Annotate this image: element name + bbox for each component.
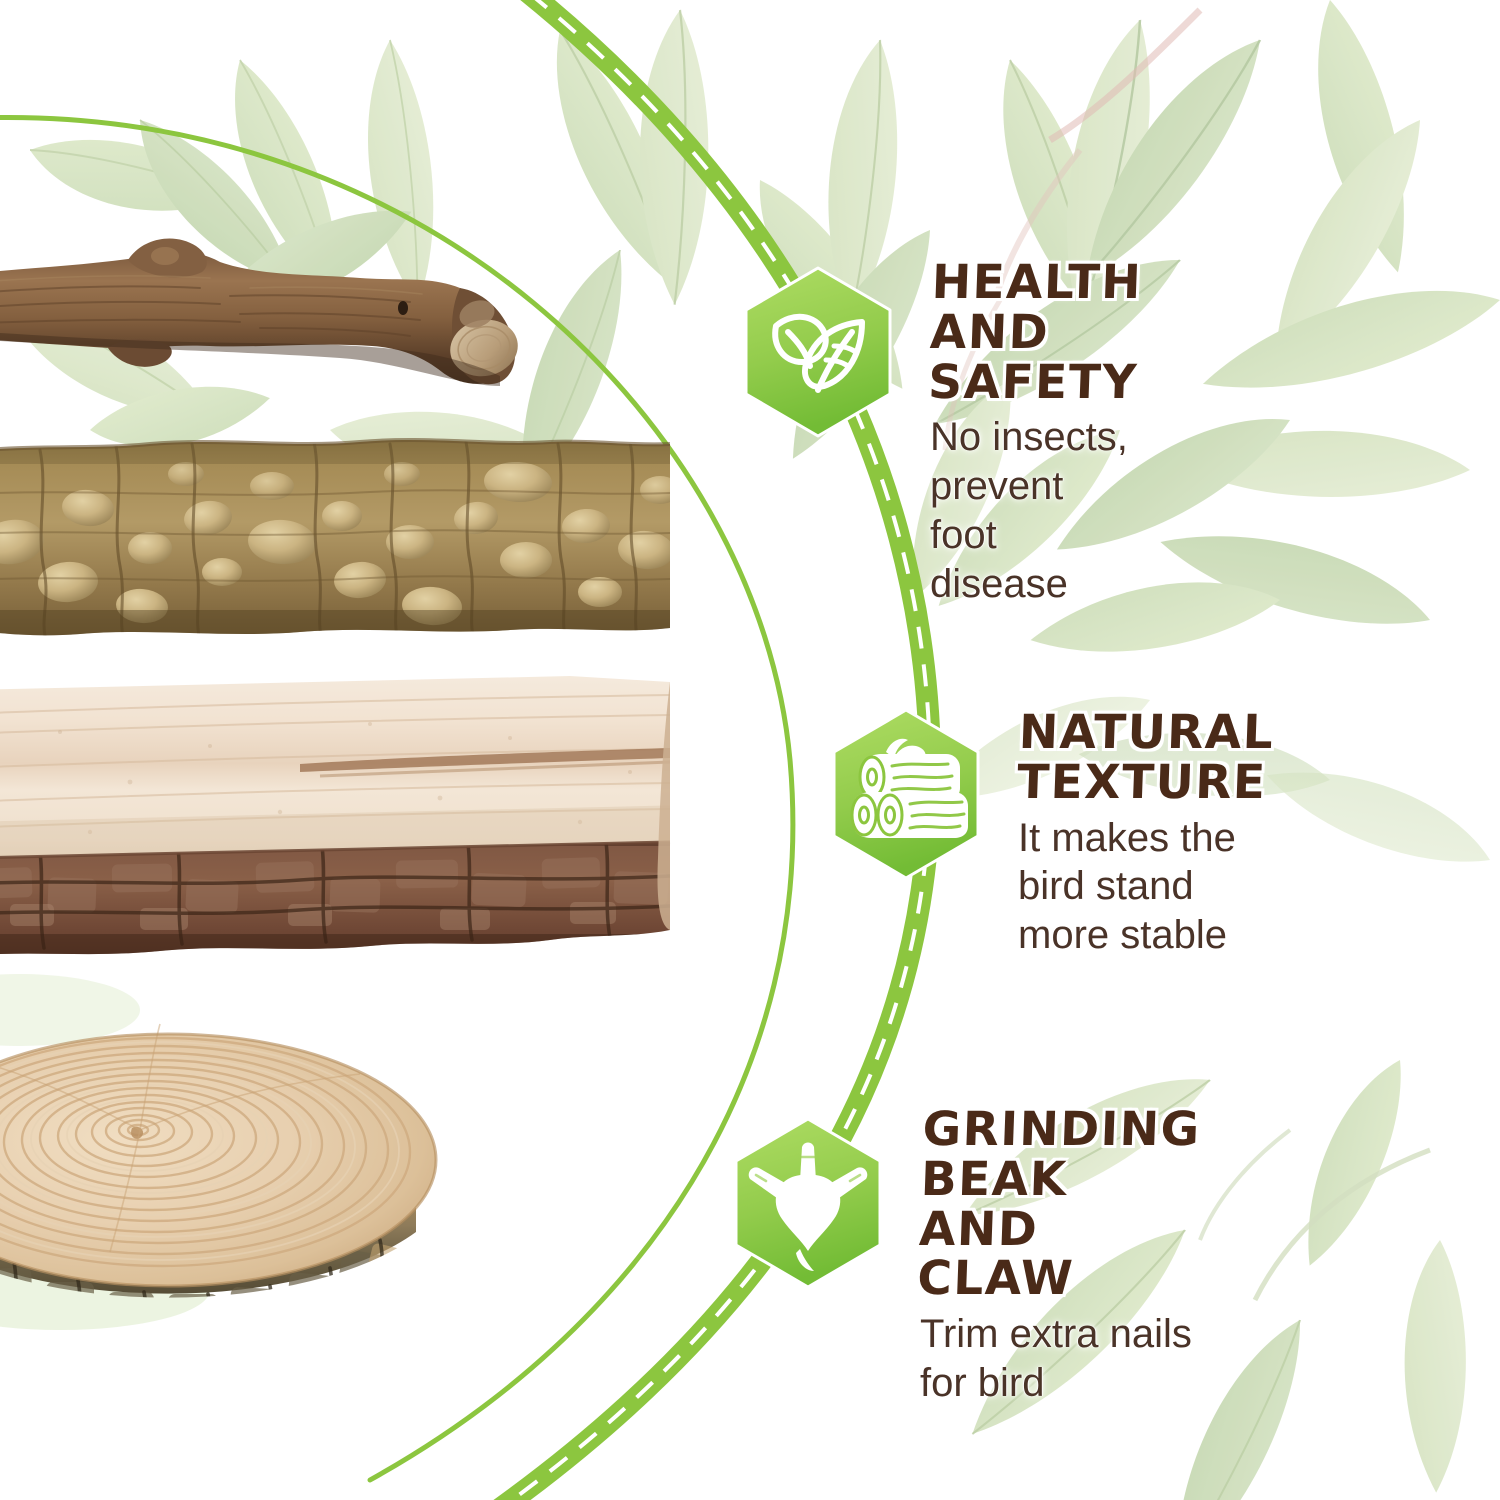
bark-stick-svg	[0, 430, 690, 650]
product-bark-stick	[0, 430, 690, 650]
feature-title: NATURAL TEXTURE	[1016, 708, 1275, 808]
feature-description: No insects, prevent foot disease	[930, 413, 1140, 608]
leaf-icon	[740, 266, 896, 438]
product-branch-perch	[0, 236, 600, 436]
leaf-icon-badge	[740, 266, 896, 438]
feature-text-block: NATURAL TEXTURE It makes the bird stand …	[1018, 708, 1273, 960]
feature-description: Trim extra nails for bird	[920, 1310, 1198, 1408]
wood-slice-svg	[0, 1000, 500, 1350]
branch-perch-svg	[0, 236, 600, 436]
product-flat-plank	[0, 672, 710, 984]
bird-claw-icon	[730, 1117, 886, 1289]
product-wood-slice	[0, 1000, 500, 1350]
flat-plank-svg	[0, 672, 710, 984]
feature-text-block: HEALTH AND SAFETY No insects, prevent fo…	[930, 258, 1140, 609]
logs-icon	[828, 708, 984, 880]
feature-description: It makes the bird stand more stable	[1018, 814, 1273, 960]
bird-claw-icon-badge	[730, 1117, 886, 1289]
feature-text-block: GRINDING BEAK AND CLAW Trim extra nails …	[920, 1105, 1198, 1408]
feature-title: GRINDING BEAK AND CLAW	[917, 1105, 1202, 1304]
logs-icon-badge	[828, 708, 984, 880]
infographic-canvas: HEALTH AND SAFETY No insects, prevent fo…	[0, 0, 1500, 1500]
feature-title: HEALTH AND SAFETY	[927, 258, 1143, 407]
